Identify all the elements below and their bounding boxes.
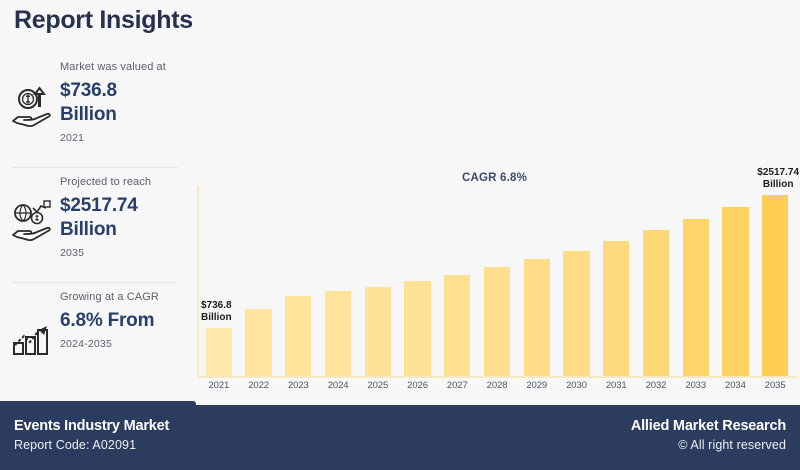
bar-slot: $736.8Billion — [199, 186, 239, 376]
footer-report-code: Report Code: A02091 — [14, 436, 169, 455]
report-insights-infographic: Report Insights Market was valued at $73… — [0, 0, 800, 470]
plot-area: $736.8Billion$2517.74Billion — [197, 186, 797, 378]
x-axis-tick-label: 2029 — [517, 380, 557, 391]
x-axis-tick-label: 2025 — [358, 380, 398, 391]
bar-data-label: $2517.74Billion — [757, 167, 799, 191]
x-axis-line — [197, 376, 797, 378]
x-axis-tick-label: 2026 — [398, 380, 438, 391]
insight-value: $2517.74 — [60, 193, 192, 218]
bar-slot — [437, 186, 477, 376]
bar-slot — [278, 186, 318, 376]
divider — [12, 167, 178, 168]
bar — [365, 287, 391, 376]
bar — [404, 281, 430, 376]
footer-notch — [0, 401, 196, 406]
bar — [285, 296, 311, 376]
page-title: Report Insights — [14, 6, 193, 35]
footer-right: Allied Market Research © All right reser… — [631, 416, 786, 455]
bar-slot — [716, 186, 756, 376]
bar-slot: $2517.74Billion — [755, 186, 795, 376]
x-axis-tick-label: 2021 — [199, 380, 239, 391]
bar-slot — [398, 186, 438, 376]
insight-text-block: Growing at a CAGR 6.8% From 2024-2035 — [60, 290, 192, 350]
insight-text-block: Projected to reach $2517.74 Billion 2035 — [60, 175, 192, 259]
bar — [563, 251, 589, 376]
insight-period: 2024-2035 — [60, 338, 192, 350]
insight-card-projection: Projected to reach $2517.74 Billion 2035 — [0, 167, 195, 282]
bar-series: $736.8Billion$2517.74Billion — [199, 186, 795, 376]
bar-chart-growth-arrow-icon — [8, 312, 58, 362]
bar-data-label: $736.8Billion — [201, 300, 232, 324]
x-axis-tick-label: 2035 — [755, 380, 795, 391]
insight-period: 2035 — [60, 247, 192, 259]
footer-left: Events Industry Market Report Code: A020… — [14, 416, 169, 455]
divider — [12, 282, 178, 283]
insight-label: Market was valued at — [60, 60, 192, 75]
bar — [484, 267, 510, 376]
insights-sidebar: Market was valued at $736.8 Billion 2021 — [0, 52, 195, 397]
insight-value: $736.8 — [60, 78, 192, 103]
insight-value: 6.8% From — [60, 308, 192, 333]
bar — [524, 259, 550, 376]
bar — [603, 241, 629, 376]
insight-label: Projected to reach — [60, 175, 192, 190]
x-axis-tick-label: 2023 — [278, 380, 318, 391]
bar — [762, 195, 788, 376]
insight-label: Growing at a CAGR — [60, 290, 192, 305]
bar-slot — [517, 186, 557, 376]
insight-unit: Billion — [60, 218, 192, 242]
insight-card-market-value: Market was valued at $736.8 Billion 2021 — [0, 52, 195, 167]
bar — [683, 219, 709, 376]
footer-rights: © All right reserved — [631, 436, 786, 455]
bar — [722, 207, 748, 376]
bar-slot — [636, 186, 676, 376]
bar — [206, 328, 232, 376]
x-axis-tick-label: 2024 — [318, 380, 358, 391]
insight-period: 2021 — [60, 132, 192, 144]
bar-slot — [477, 186, 517, 376]
bar — [643, 230, 669, 376]
bar — [444, 275, 470, 376]
x-axis-tick-label: 2033 — [676, 380, 716, 391]
hand-coin-arrow-up-icon — [8, 82, 58, 132]
x-axis-tick-label: 2030 — [557, 380, 597, 391]
x-axis-tick-label: 2027 — [437, 380, 477, 391]
cagr-annotation: CAGR 6.8% — [462, 172, 527, 184]
x-axis-tick-label: 2022 — [239, 380, 279, 391]
insight-card-cagr: Growing at a CAGR 6.8% From 2024-2035 — [0, 282, 195, 397]
footer-brand: Allied Market Research — [631, 416, 786, 436]
x-axis-tick-label: 2032 — [636, 380, 676, 391]
footer-market-name: Events Industry Market — [14, 416, 169, 436]
x-axis-tick-label: 2034 — [716, 380, 756, 391]
bar-slot — [358, 186, 398, 376]
bar — [245, 309, 271, 376]
x-axis-tick-label: 2028 — [477, 380, 517, 391]
bar-slot — [239, 186, 279, 376]
insight-unit: Billion — [60, 103, 192, 127]
bar — [325, 291, 351, 376]
footer-bar: Events Industry Market Report Code: A020… — [0, 405, 800, 470]
bar-slot — [318, 186, 358, 376]
bar-slot — [557, 186, 597, 376]
x-axis-labels: 2021202220232024202520262027202820292030… — [199, 380, 795, 391]
x-axis-tick-label: 2031 — [596, 380, 636, 391]
market-forecast-bar-chart: CAGR 6.8% $736.8Billion$2517.74Billion 2… — [197, 158, 797, 398]
hand-globe-diamond-dollar-icon — [8, 197, 58, 247]
bar-slot — [676, 186, 716, 376]
bar-slot — [596, 186, 636, 376]
insight-text-block: Market was valued at $736.8 Billion 2021 — [60, 60, 192, 144]
